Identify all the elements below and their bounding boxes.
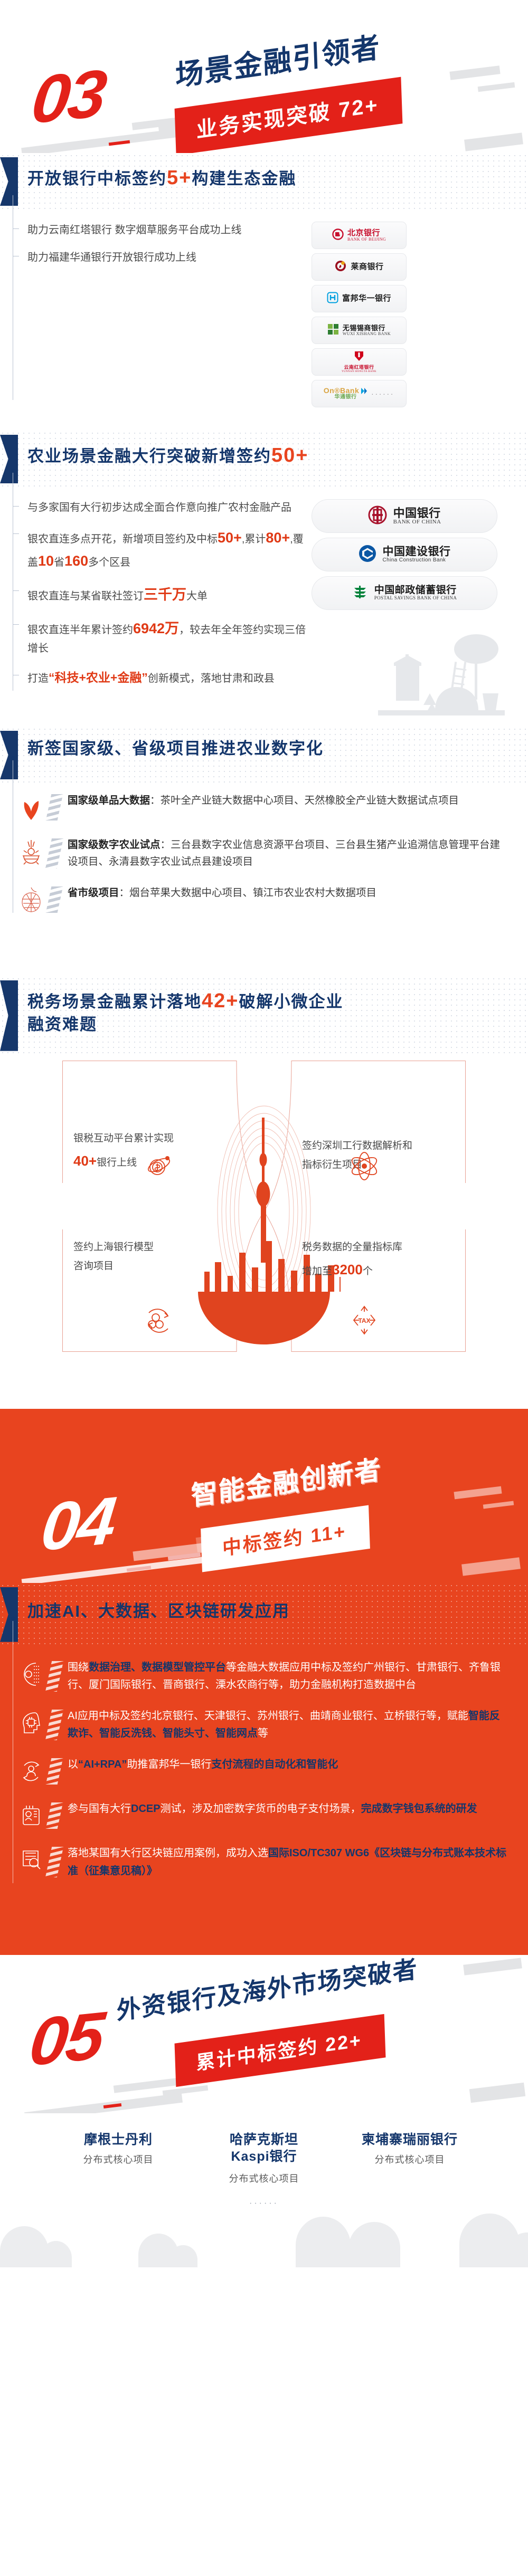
overseas-name: 柬埔寨瑞丽银行 [344,2131,476,2148]
logo-text: 云南红塔银行 YUNNAN HONGTA BANK [342,365,376,373]
divider-slash [46,886,63,913]
section-title: 加速AI、大数据、区块链研发应用 [27,1601,290,1623]
heading-tab-marker [0,980,18,1051]
logo-card-wuxi-xishang-bank: 无锡锡商银行 WUXI XISHANG BANK [312,317,407,344]
item-part: 等 [258,1728,268,1739]
logo-ellipsis: ······ [371,390,394,398]
title-pre: 开放银行中标签约 [27,169,167,188]
logo-name-en: BANK OF CHINA [393,519,441,526]
banner-section-05: 05 外资银行及海外市场突破者 累计中标签约 22+ [0,1955,528,2113]
icon-bullet-list: 国家级单品大数据：茶叶全产业链大数据中心项目、天然橡胶全产业链大数据试点项目 国… [0,784,528,934]
item-label: 省市级项目 [68,887,119,899]
item-part-bold: 数据治理、数据模型管控平台 [89,1662,226,1673]
tax-quadrant-diagram: 银税互动平台累计实现 40+银行上线 签约深圳工行数据解析和 指标衍生项目 签约… [0,1055,528,1372]
list-item: 落地某国有大行区块链应用案例，成功入选国际ISO/TC307 WG6《区块链与分… [16,1845,510,1879]
data-governance-icon [16,1659,46,1690]
logo-name-en: China Construction Bank [383,558,451,564]
overseas-desc: 分布式核心项目 [52,2152,184,2166]
logo-name-cn: 华通银行 [335,395,357,400]
item-text: AI应用中标及签约北京银行、天津银行、苏州银行、曲靖商业银行、立桥银行等，赋能智… [68,1707,510,1742]
title-pre: 农业场景金融大行突破新增签约 [27,447,271,465]
overseas-card: 哈萨克斯坦 Kaspi银行 分布式核心项目 [198,2131,330,2185]
wheat-icon [16,836,46,867]
overseas-card-row: 摩根士丹利 分布式核心项目 哈萨克斯坦 Kaspi银行 分布式核心项目 柬埔寨瑞… [0,2131,528,2185]
banner-deco-bar [461,1557,521,1576]
atom-icon [347,1149,381,1183]
section-title: 农业场景金融大行突破新增签约50+ [27,442,308,469]
china-construction-bank-logo-icon [359,545,376,565]
logo-text: 北京银行 BANK OF BEIJING [347,229,386,242]
digital-wallet-icon [16,1800,46,1831]
farm-illustration [373,631,510,723]
logo-text: On®Bank 华通银行 [324,387,368,400]
item-body: ：烟台苹果大数据中心项目、镇江市农业农村大数据项目 [119,887,377,899]
logo-card-bank-of-china: 中国银行 BANK OF CHINA [312,499,497,533]
icon-bullet-list: 围绕数据治理、数据模型管控平台等金融大数据应用中标及签约广州银行、甘肃银行、齐鲁… [0,1646,528,1899]
quadrant-line-2: 咨询项目 [73,1257,226,1276]
list-item: 国家级数字农业试点：三台县数字农业信息资源平台项目、三台县生猪产业追溯信息管理平… [16,836,510,871]
logo-name-en: POSTAL SAVINGS BANK OF CHINA [374,596,457,600]
title-post: 破解小微企业 [239,993,343,1011]
item-part: 助推富邦华一银行 [127,1759,211,1770]
logo-text: 无锡锡商银行 WUXI XISHANG BANK [343,325,391,336]
banner-subtitle: 累计中标签约 22+ [175,2014,386,2087]
divider-slash [46,794,63,820]
wuxi-xishang-bank-logo-icon [327,323,339,338]
section-title: 新签国家级、省级项目推进农业数字化 [27,738,324,760]
list-item: 助力福建华通银行开放银行成功上线 [16,249,312,266]
section-title: 税务场景金融累计落地42+破解小微企业融资难题 [27,988,343,1036]
bank-of-beijing-logo-icon [332,228,344,243]
ai-brain-icon [16,1707,46,1738]
item-text: 以“AI+RPA”助推富邦华一银行支付流程的自动化和智能化 [68,1756,510,1773]
connector-rail [13,1620,13,1883]
section-title: 开放银行中标签约5+构建生态金融 [27,165,296,191]
item-part: 参与国有大行 [68,1803,131,1815]
list-item: 助力云南红塔银行 数字烟草服务平台成功上线 [16,222,312,238]
banner-number: 05 [26,2002,106,2076]
heading-tab-marker [0,435,18,483]
logo-card-laishang-bank: 莱商银行 [312,253,407,281]
logo-name-en: On®Bank [324,387,360,395]
logo-name-cn: 富邦华一银行 [342,294,391,303]
cycle-model-icon [142,1303,175,1337]
logo-name-cn: 无锡锡商银行 [343,325,391,332]
bullet-list: 助力云南红塔银行 数字烟草服务平台成功上线 助力福建华通银行开放银行成功上线 [0,222,312,407]
item-part-bold: DCEP [131,1803,161,1815]
overseas-desc: 分布式核心项目 [198,2171,330,2185]
banner-deco-bar [469,2083,525,2103]
quadrant-line-2-post: 个 [363,1266,373,1277]
quadrant-line-2-text: 银行上线 [97,1157,137,1168]
banner-deco-bar [163,2085,209,2096]
list-item: 围绕数据治理、数据模型管控平台等金融大数据应用中标及签约广州银行、甘肃银行、齐鲁… [16,1659,510,1694]
section-heading-band: 开放银行中标签约5+构建生态金融 [0,153,528,210]
title-post: 构建生态金融 [192,169,296,188]
logo-text: 莱商银行 [351,263,383,271]
item-body: ：茶叶全产业链大数据中心项目、天然橡胶全产业链大数据试点项目 [150,795,459,806]
item-part: 以 [68,1759,78,1770]
infographic-page: 03 场景金融引领者 业务实现突破 72+ 开放银行中标签约5+构建生态金融 助… [0,0,528,2267]
section-agriculture: 农业场景金融大行突破新增签约50+ 与多家国有大行初步达成全面合作意向推广农村金… [0,431,528,727]
list-item: 银农直连半年累计签约6942万，较去年全年签约实现三倍增长 [16,617,312,657]
banner-number: 03 [29,60,108,134]
overseas-ellipsis: ······ [0,2199,528,2208]
divider-slash [46,1802,63,1829]
section-spacer [0,412,528,425]
overseas-name: 摩根士丹利 [52,2131,184,2148]
bullet-list: 与多家国有大行初步达成全面合作意向推广农村金融产品 银农直连多点开花，新增项目签… [0,499,312,698]
item-part: 围绕 [68,1662,89,1673]
section-overseas: 摩根士丹利 分布式核心项目 哈萨克斯坦 Kaspi银行 分布式核心项目 柬埔寨瑞… [0,2113,528,2267]
logo-name-cn: 中国邮政储蓄银行 [374,585,457,596]
laishang-bank-logo-icon [334,260,347,275]
sprout-icon [16,792,46,823]
item-text: 国家级数字农业试点：三台县数字农业信息资源平台项目、三台县生猪产业追溯信息管理平… [68,836,510,871]
list-item: 参与国有大行DCEP测试，涉及加密数字货币的电子支付场景，完成数字钱包系统的研发 [16,1800,510,1831]
quadrant-number: 40+ [73,1153,97,1169]
logo-name-en: WUXI XISHANG BANK [343,332,391,336]
logo-name-en: YUNNAN HONGTA BANK [342,370,376,373]
coin-orbit-icon [142,1149,175,1183]
partner-logo-panel: 北京银行 BANK OF BEIJING 莱商银行 [312,222,512,407]
section-open-bank: 开放银行中标签约5+构建生态金融 助力云南红塔银行 数字烟草服务平台成功上线 助… [0,153,528,431]
heading-tab-marker [0,731,18,779]
section-heading-band: 新签国家级、省级项目推进农业数字化 [0,727,528,784]
heading-tab-marker [0,157,18,206]
item-text: 省市级项目：烟台苹果大数据中心项目、镇江市农业农村大数据项目 [68,884,510,901]
certificate-icon [16,1845,46,1875]
quadrant-line-1: 银税互动平台累计实现 [73,1129,226,1148]
heading-tab-marker [0,1587,18,1642]
item-part-bold: 完成数字钱包系统的研发 [361,1803,477,1815]
section-heading-band: 农业场景金融大行突破新增签约50+ [0,431,528,488]
banner-deco-bar [464,132,523,151]
section-tax: 税务场景金融累计落地42+破解小微企业融资难题 [0,976,528,1409]
overseas-name: 哈萨克斯坦 Kaspi银行 [198,2131,330,2165]
quadrant-number: 3200 [332,1262,363,1277]
list-item: 省市级项目：烟台苹果大数据中心项目、镇江市农业农村大数据项目 [16,884,510,915]
title-number: 42+ [202,990,239,1012]
item-label: 国家级数字农业试点 [68,839,161,851]
logo-name-cn: 云南红塔银行 [344,365,374,370]
logo-text: 中国建设银行 China Construction Bank [383,546,451,564]
title-number: 5+ [167,167,192,189]
quadrant-line-1: 签约上海银行模型 [73,1238,226,1257]
logo-name-en: BANK OF BEIJING [347,237,386,242]
rpa-cycle-icon [16,1756,46,1787]
connector-rail [13,194,13,400]
logo-name-cn: 莱商银行 [351,263,383,271]
banner-deco-bar [483,1501,514,1509]
title-pre: 税务场景金融累计落地 [27,993,202,1011]
overseas-card: 柬埔寨瑞丽银行 分布式核心项目 [344,2131,476,2185]
list-item: 以“AI+RPA”助推富邦华一银行支付流程的自动化和智能化 [16,1756,510,1787]
title-line2: 融资难题 [27,1015,97,1034]
item-part: 落地某国有大行区块链应用案例，成功入选 [68,1847,268,1859]
item-part: 测试，涉及加密数字货币的电子支付场景， [161,1803,361,1815]
logo-card-yunnan-hongta-bank: 云南红塔银行 YUNNAN HONGTA BANK [312,348,407,376]
divider-slash [46,1758,63,1785]
tax-arrows-icon: TAX [347,1303,381,1337]
list-item: 与多家国有大行初步达成全面合作意向推广农村金融产品 [16,499,312,516]
list-item: AI应用中标及签约北京银行、天津银行、苏州银行、曲靖商业银行、立桥银行等，赋能智… [16,1707,510,1742]
connector-rail [13,472,13,691]
section-ai-bigdata-blockchain: 加速AI、大数据、区块链研发应用 围绕数据治理、数据模型管控平台等金融大数据应用… [0,1583,528,1955]
section-spacer [0,934,528,971]
banner-deco-bar [449,65,500,80]
quadrant-line-1: 税务数据的全量指标库 [302,1238,455,1257]
section-heading-band: 税务场景金融累计落地42+破解小微企业融资难题 [0,976,528,1055]
logo-card-bank-of-beijing: 北京银行 BANK OF BEIJING [312,222,407,249]
logo-card-postal-savings-bank: 中国邮政储蓄银行 POSTAL SAVINGS BANK OF CHINA [312,576,497,610]
list-item: 银农直连多点开花，新增项目签约及中标50+,累计80+,覆盖10省160多个区县 [16,527,312,573]
on-bank-logo-icon: On®Bank [324,387,368,395]
logo-text: 中国邮政储蓄银行 POSTAL SAVINGS BANK OF CHINA [374,585,457,600]
logo-name-cn: 中国建设银行 [383,546,451,558]
logo-grid: 北京银行 BANK OF BEIJING 莱商银行 [312,222,504,407]
section-body: 助力云南红塔银行 数字烟草服务平台成功上线 助力福建华通银行开放银行成功上线 北… [0,210,528,412]
quadrant-line-2: 增加至3200个 [302,1257,455,1283]
logo-name-cn: 北京银行 [347,229,386,237]
yunnan-hongta-bank-logo-icon [354,351,364,364]
overseas-desc: 分布式核心项目 [344,2152,476,2166]
divider-slash [45,1661,63,1692]
quadrant-line-2-pre: 增加至 [302,1266,332,1277]
item-part: AI应用中标及签约北京银行、天津银行、苏州银行、曲靖商业银行、立桥银行等，赋能 [68,1710,468,1722]
section-spacer [0,1372,528,1404]
svg-text:TAX: TAX [358,1317,370,1324]
list-item: 银农直连与某省联社签订三千万大单 [16,584,312,607]
logo-text: 富邦华一银行 [342,294,391,303]
logo-name-cn: 中国银行 [393,507,441,519]
item-part-bold: 支付流程的自动化和智能化 [211,1759,338,1770]
divider-slash [45,1710,63,1740]
overseas-card: 摩根士丹利 分布式核心项目 [52,2131,184,2185]
title-number: 50+ [271,444,308,466]
banner-number: 04 [38,1487,117,1561]
postal-savings-bank-logo-icon [352,584,368,603]
banner-deco-bar [478,82,515,92]
section-heading-band: 加速AI、大数据、区块链研发应用 [0,1583,528,1646]
list-item: 打造“科技+农业+金融”创新模式，落地甘肃和政县 [16,668,312,688]
divider-slash [45,838,63,869]
section-spacer [0,1899,528,1950]
banner-deco-bar [454,1486,502,1499]
item-text: 参与国有大行DCEP测试，涉及加密数字货币的电子支付场景，完成数字钱包系统的研发 [68,1800,510,1818]
item-text: 国家级单品大数据：茶叶全产业链大数据中心项目、天然橡胶全产业链大数据试点项目 [68,792,510,809]
fubon-huayi-bank-logo-icon [327,292,338,306]
item-text: 围绕数据治理、数据模型管控平台等金融大数据应用中标及签约广州银行、甘肃银行、齐鲁… [68,1659,510,1694]
banner-section-03: 03 场景金融引领者 业务实现突破 72+ [0,0,528,153]
item-text: 落地某国有大行区块链应用案例，成功入选国际ISO/TC307 WG6《区块链与分… [68,1845,510,1879]
apple-icon [16,884,46,915]
list-item: 国家级单品大数据：茶叶全产业链大数据中心项目、天然橡胶全产业链大数据试点项目 [16,792,510,823]
connector-rail [13,759,13,913]
banner-subtitle: 中标签约 11+ [201,1505,370,1572]
banner-deco-bar [463,1958,522,1975]
banner-section-04: 04 智能金融创新者 中标签约 11+ [0,1409,528,1583]
logo-card-fubon-huayi-bank: 富邦华一银行 [312,285,407,312]
item-part-bold: “AI+RPA” [78,1759,127,1770]
section-national-projects: 新签国家级、省级项目推进农业数字化 国家级单品大数据：茶叶全产业链大数据中心项目… [0,727,528,976]
logo-text: 中国银行 BANK OF CHINA [393,507,441,526]
item-label: 国家级单品大数据 [68,795,150,806]
banner-deco-bar [24,2093,183,2113]
logo-card-on-bank: On®Bank 华通银行 ······ [312,380,407,407]
logo-card-china-construction-bank: 中国建设银行 China Construction Bank [312,538,497,571]
divider-slash [45,1847,63,1877]
banner-title: 智能金融创新者 [191,1448,382,1513]
bank-of-china-logo-icon [368,505,387,527]
